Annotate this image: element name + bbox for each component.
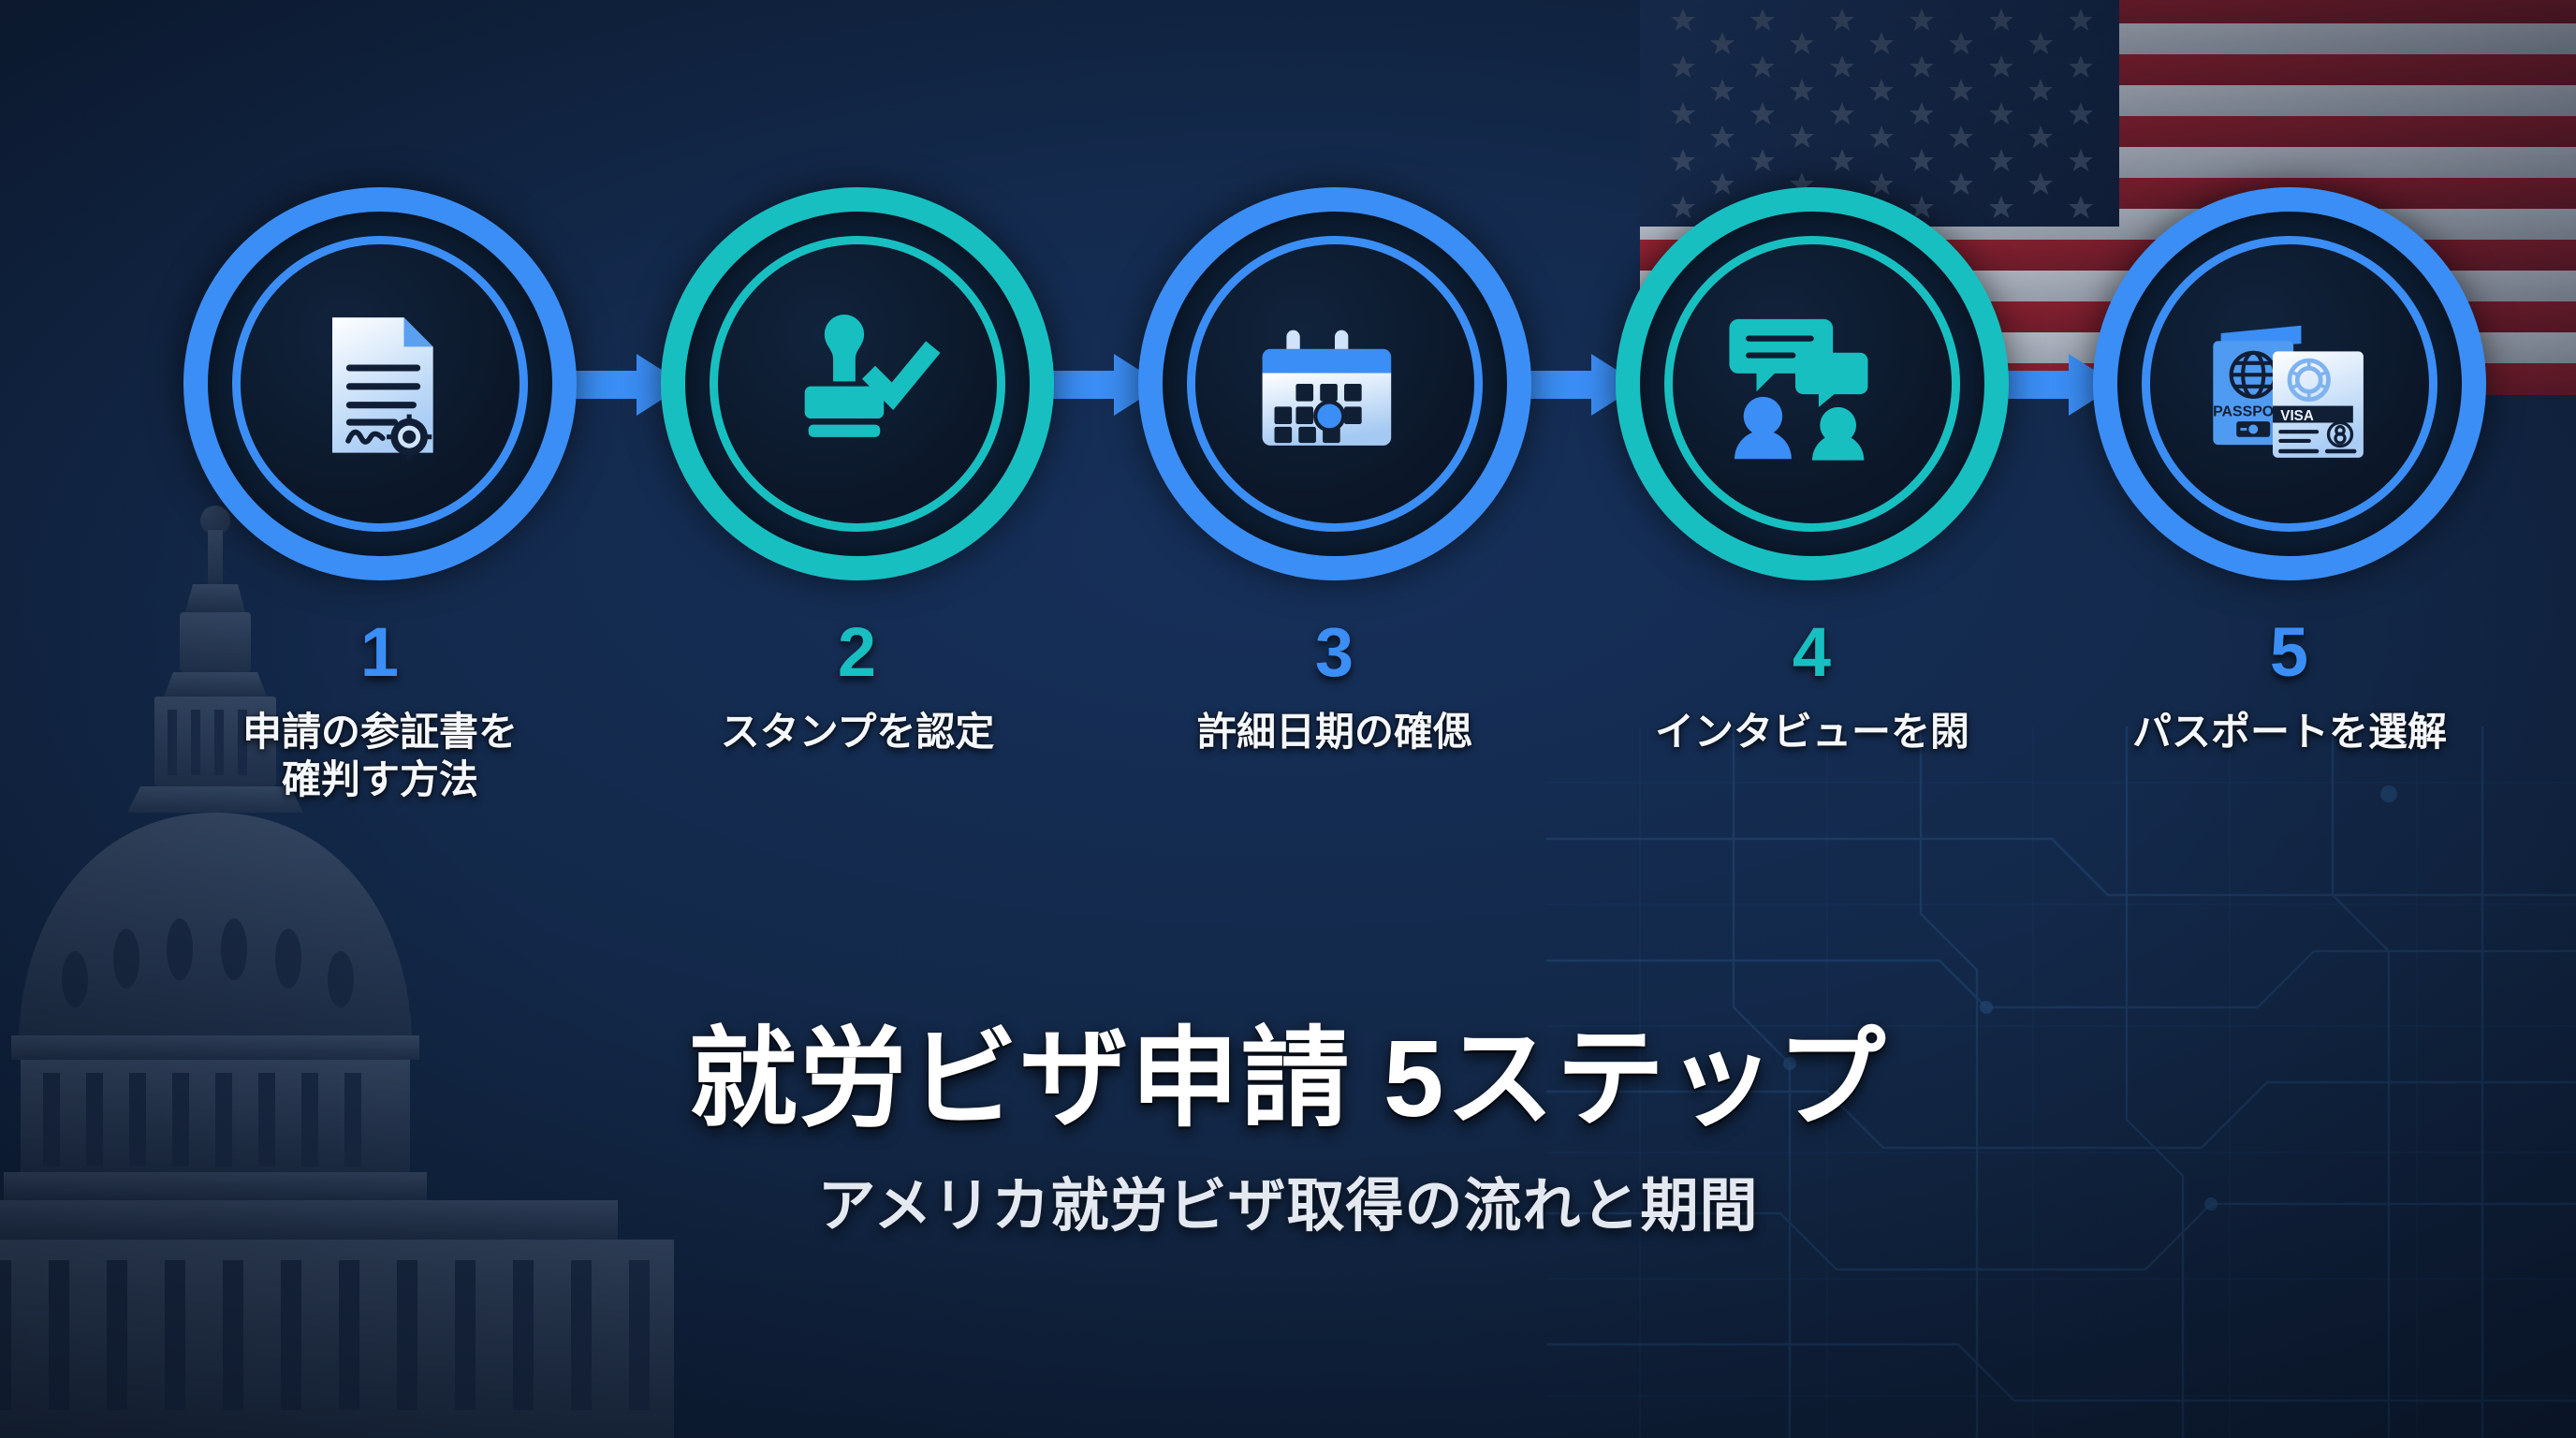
step-number-4: 4 [1569, 618, 2056, 687]
visa-label: VISA [2280, 408, 2314, 424]
steps-row: PASSPORT [0, 187, 2576, 599]
step-title-1: 申請の参証書を 確判す方法 [137, 708, 623, 803]
step-title-4: インタビューを閖 [1569, 708, 2056, 756]
step-circle-2[interactable] [661, 187, 1054, 580]
document-signature-seal-icon [300, 304, 460, 463]
rubber-stamp-check-icon [771, 309, 944, 459]
step-label-group-3: 3 許細日期の確偲 [1091, 618, 1578, 756]
interview-speech-people-icon [1728, 306, 1896, 462]
passport-visa-icon: PASSPORT [2205, 300, 2374, 468]
headline-block: 就労ビザ申請 5ステップ アメリカ就労ビザ取得の流れと期間 [0, 1020, 2576, 1242]
step-circle-1[interactable] [183, 187, 577, 580]
step-label-group-2: 2 スタンプを認定 [614, 618, 1101, 756]
step-circle-5[interactable]: PASSPORT [2093, 187, 2486, 580]
step-icon-1 [268, 271, 492, 496]
step-number-1: 1 [137, 618, 623, 687]
step-circle-3[interactable] [1138, 187, 1531, 580]
calendar-date-icon [1254, 303, 1415, 464]
step-label-group-4: 4 インタビューを閖 [1569, 618, 2056, 756]
step-number-3: 3 [1091, 618, 1578, 687]
step-title-3: 許細日期の確偲 [1091, 708, 1578, 756]
step-label-group-1: 1 申請の参証書を 確判す方法 [137, 618, 623, 803]
step-icon-3 [1222, 271, 1447, 496]
step-label-group-5: 5 パスポートを選解 [2046, 618, 2533, 756]
infographic-canvas: PASSPORT [0, 0, 2576, 1438]
step-icon-4 [1700, 271, 1925, 496]
step-title-2: スタンプを認定 [614, 708, 1101, 756]
step-icon-2 [745, 271, 970, 496]
step-number-5: 5 [2046, 618, 2533, 687]
step-icon-5: PASSPORT [2177, 271, 2402, 496]
step-title-5: パスポートを選解 [2046, 708, 2533, 756]
page-title: 就労ビザ申請 5ステップ [0, 1020, 2576, 1137]
step-number-2: 2 [614, 618, 1101, 687]
step-circle-4[interactable] [1616, 187, 2009, 580]
page-subtitle: アメリカ就労ビザ取得の流れと期間 [0, 1158, 2576, 1242]
